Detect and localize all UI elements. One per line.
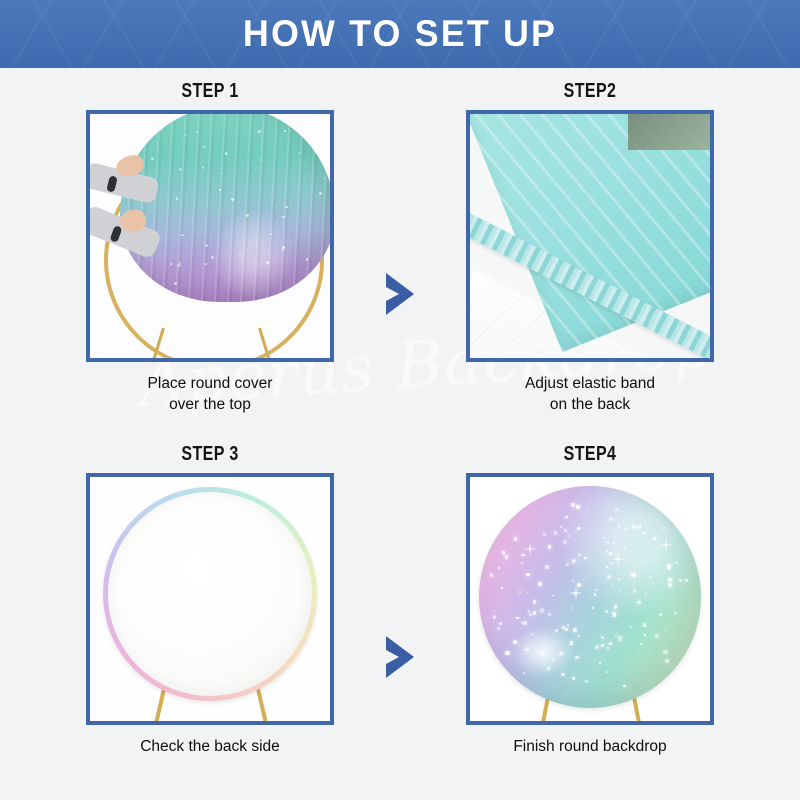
fabric-folds [120, 110, 334, 302]
step-caption-1-line2: over the top [40, 394, 380, 415]
step-label-3: STEP 3 [74, 443, 346, 466]
how-to-set-up-infographic: HOW TO SET UP Aperus Backdrop STEP 1 [0, 0, 800, 800]
step-card-2: STEP2 Adjust elastic band on the back [420, 80, 760, 415]
cover-back-disc [103, 487, 317, 701]
stand-leg-left [154, 689, 166, 725]
step-caption-4-line1: Finish round backdrop [420, 736, 760, 757]
step-caption-1: Place round cover over the top [40, 373, 380, 415]
step-image-4 [466, 473, 714, 725]
step-caption-3: Check the back side [40, 736, 380, 757]
step-caption-1-line1: Place round cover [40, 373, 380, 394]
step-image-1 [86, 110, 334, 362]
finished-round-backdrop [479, 486, 701, 708]
chevron-right-icon [383, 634, 417, 680]
step-card-3: STEP 3 Check the back side [40, 443, 380, 757]
sparkle-icon [565, 582, 587, 604]
step-caption-2: Adjust elastic band on the back [420, 373, 760, 415]
step-image-3 [86, 473, 334, 725]
step-card-1: STEP 1 Place round [40, 80, 380, 415]
page-title: HOW TO SET UP [12, 0, 788, 68]
step-card-4: STEP4 Finish round backdrop [420, 443, 760, 757]
step-label-2: STEP2 [454, 80, 726, 103]
background-corner-blur [628, 114, 710, 150]
illustration-place-cover [90, 114, 330, 358]
stand-leg-right [256, 689, 268, 725]
gradient-fabric-cover [120, 110, 334, 302]
sparkle-icon [607, 548, 629, 570]
cover-back-white-face [108, 492, 312, 696]
step-label-4: STEP4 [454, 443, 726, 466]
step-label-1: STEP 1 [74, 80, 346, 103]
steps-grid: STEP 1 Place round [0, 68, 800, 800]
step-caption-3-line1: Check the back side [40, 736, 380, 757]
step-image-2 [466, 110, 714, 362]
illustration-back-side [90, 477, 330, 721]
step-caption-2-line2: on the back [420, 394, 760, 415]
step-caption-2-line1: Adjust elastic band [420, 373, 760, 394]
step-caption-4: Finish round backdrop [420, 736, 760, 757]
sparkle-icon [519, 538, 541, 560]
illustration-finished-backdrop [470, 477, 710, 721]
chevron-right-icon [383, 271, 417, 317]
illustration-elastic-band [470, 114, 710, 358]
sparkle-icon [655, 534, 677, 556]
star-field [479, 486, 701, 708]
